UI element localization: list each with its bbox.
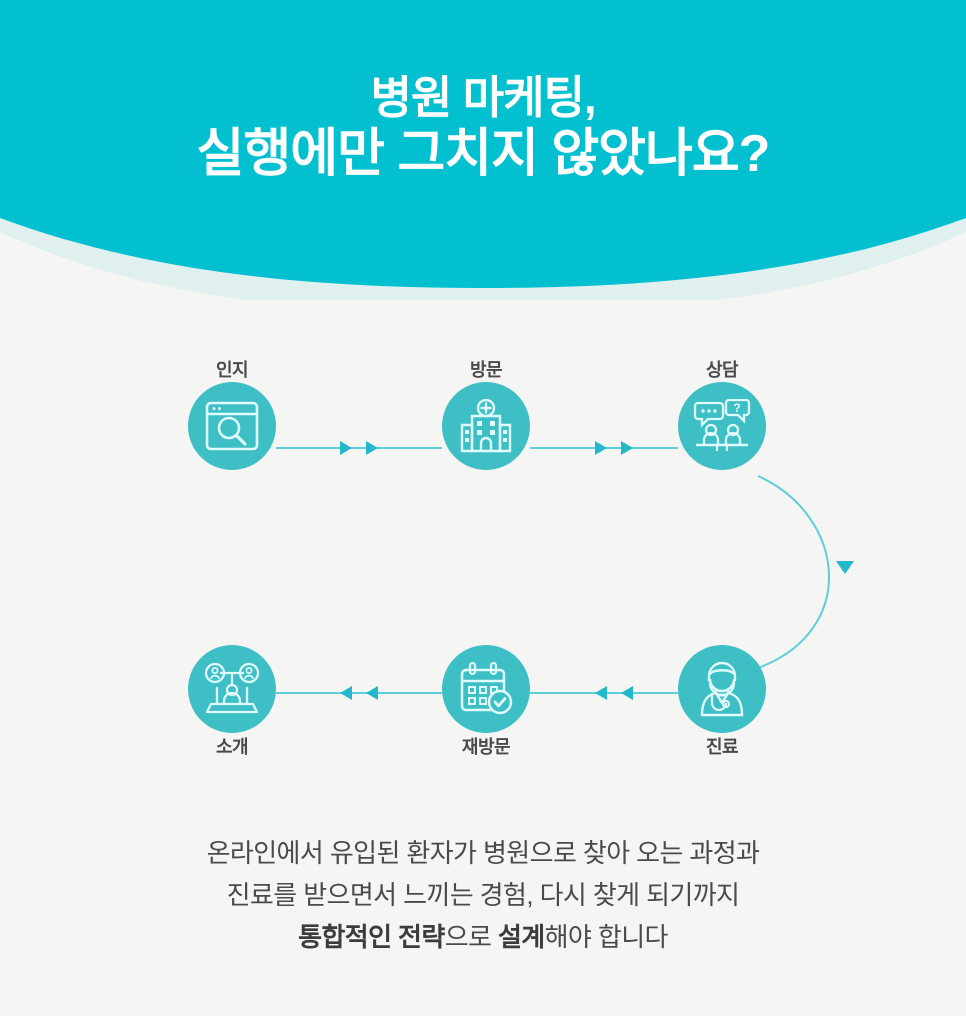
doctor-icon <box>695 661 749 717</box>
flow-node-consult[interactable]: 상담 ? <box>662 356 782 470</box>
flow-node-consult-label: 상담 <box>706 360 738 380</box>
caption-line-3-mid: 으로 <box>445 922 498 952</box>
caption-line-1: 온라인에서 유입된 환자가 병원으로 찾아 오는 과정과 <box>0 832 966 874</box>
flow-node-referral[interactable]: 소개 <box>172 645 292 759</box>
flow-node-awareness[interactable]: 인지 <box>172 356 292 470</box>
flow-node-referral-circle[interactable] <box>188 645 276 733</box>
caption-emphasis-strategy: 통합적인 전략 <box>298 922 445 952</box>
calendar-check-icon <box>458 662 514 716</box>
page-title-line-1: 병원 마케팅, <box>0 72 966 123</box>
flow-node-visit-label: 방문 <box>470 360 502 380</box>
svg-text:?: ? <box>733 401 740 415</box>
arrowhead-consult-to-treatment <box>836 561 854 574</box>
flow-node-treatment[interactable]: 진료 <box>662 645 782 759</box>
patient-journey-flow-diagram: 인지 방문 <box>0 300 966 820</box>
caption-line-3-tail: 해야 합니다 <box>545 922 668 952</box>
summary-caption: 온라인에서 유입된 환자가 병원으로 찾아 오는 과정과 진료를 받으면서 느끼… <box>0 832 966 958</box>
caption-emphasis-design: 설계 <box>498 922 545 952</box>
caption-line-2: 진료를 받으면서 느끼는 경험, 다시 찾게 되기까지 <box>0 874 966 916</box>
flow-node-revisit-label: 재방문 <box>462 737 510 757</box>
flow-node-awareness-circle[interactable] <box>188 382 276 470</box>
flow-node-treatment-label: 진료 <box>706 737 738 757</box>
hospital-building-icon <box>458 399 514 453</box>
flow-node-referral-label: 소개 <box>216 737 248 757</box>
referral-network-icon <box>204 662 260 716</box>
flow-node-revisit-circle[interactable] <box>442 645 530 733</box>
flow-node-awareness-label: 인지 <box>216 360 248 380</box>
page-title: 병원 마케팅, 실행에만 그치지 않았나요? <box>0 72 966 185</box>
header-banner: 병원 마케팅, 실행에만 그치지 않았나요? <box>0 0 966 300</box>
flow-node-visit-circle[interactable] <box>442 382 530 470</box>
browser-search-icon <box>204 400 260 452</box>
page-title-line-2: 실행에만 그치지 않았나요? <box>0 125 966 184</box>
flow-node-revisit[interactable]: 재방문 <box>426 645 546 759</box>
flow-node-consult-circle[interactable]: ? <box>678 382 766 470</box>
flow-node-treatment-circle[interactable] <box>678 645 766 733</box>
caption-line-3: 통합적인 전략으로 설계해야 합니다 <box>0 916 966 958</box>
consultation-icon: ? <box>693 399 751 453</box>
connector-consult-to-treatment <box>758 476 829 668</box>
flow-node-visit[interactable]: 방문 <box>426 356 546 470</box>
